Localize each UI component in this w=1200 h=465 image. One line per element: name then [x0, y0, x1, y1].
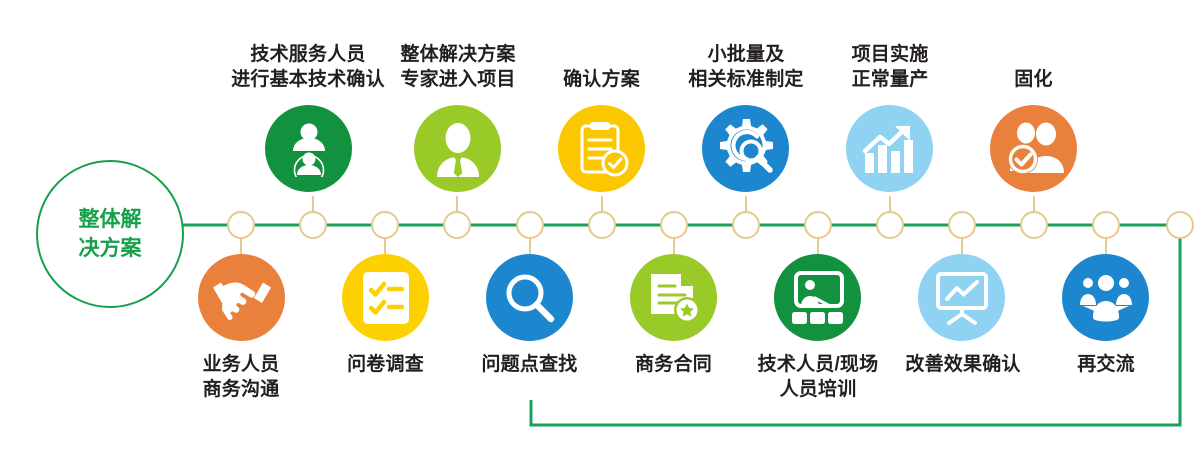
- bottom-step-7-icon group-people-icon[interactable]: [1062, 254, 1149, 341]
- flow-diagram: 整体解 决方案 技术服务人员 进行基本技术确认 整体解决方案 专家进入项目: [0, 0, 1200, 465]
- presentation-chart-icon-glyph: [934, 271, 990, 325]
- top-step-3-icon clipboard-check-icon[interactable]: [558, 105, 645, 192]
- team-check-icon-glyph: [1004, 121, 1064, 177]
- bottom-step-2-label: 问卷调查: [313, 352, 458, 377]
- top-step-1-icon two-people-icon[interactable]: [265, 105, 352, 192]
- magnifier-icon-glyph: [504, 272, 556, 324]
- bottom-step-6-label: 改善效果确认: [888, 352, 1038, 377]
- two-people-icon-glyph: [281, 121, 337, 177]
- top-step-5-icon growth-chart-icon[interactable]: [846, 105, 933, 192]
- handshake-icon-glyph: [211, 275, 273, 321]
- top-step-4-icon gear-magnifier-icon[interactable]: [702, 105, 789, 192]
- bottom-step-1-icon handshake-icon[interactable]: [198, 254, 285, 341]
- top-step-6-icon team-check-icon[interactable]: [990, 105, 1077, 192]
- bottom-step-5-icon training-board-icon[interactable]: [774, 254, 861, 341]
- bottom-step-3-icon magnifier-icon[interactable]: [486, 254, 573, 341]
- gear-magnifier-icon-glyph: [715, 118, 777, 180]
- top-step-5-label: 项目实施 正常量产: [818, 42, 962, 92]
- training-board-icon-glyph: [788, 271, 848, 325]
- group-people-icon-glyph: [1077, 273, 1135, 323]
- bottom-step-4-label: 商务合同: [601, 352, 746, 377]
- top-step-4-label: 小批量及 相关标准制定: [668, 42, 824, 92]
- bottom-step-2-icon checklist-icon[interactable]: [342, 254, 429, 341]
- bottom-step-4-icon document-star-icon[interactable]: [630, 254, 717, 341]
- bottom-step-6-icon presentation-chart-icon[interactable]: [918, 254, 1005, 341]
- bottom-step-3-label: 问题点查找: [457, 352, 602, 377]
- hub-circle[interactable]: 整体解 决方案: [36, 160, 184, 308]
- document-star-icon-glyph: [647, 271, 701, 325]
- bottom-step-1-label: 业务人员 商务沟通: [157, 352, 325, 402]
- bottom-step-5-label: 技术人员/现场 人员培训: [733, 352, 903, 402]
- top-step-3-label: 确认方案: [529, 67, 674, 92]
- top-step-1-label: 技术服务人员 进行基本技术确认: [218, 42, 398, 92]
- top-step-2-label: 整体解决方案 专家进入项目: [372, 42, 544, 92]
- bottom-step-7-label: 再交流: [1036, 352, 1176, 377]
- growth-chart-icon-glyph: [862, 123, 918, 175]
- person-tie-icon-glyph: [431, 121, 485, 177]
- timeline-stems-up: [313, 196, 1034, 225]
- top-step-6-label: 固化: [971, 67, 1096, 92]
- hub-label: 整体解 决方案: [79, 205, 142, 263]
- timeline-stems-down: [241, 225, 1106, 254]
- checklist-icon-glyph: [361, 270, 411, 326]
- timeline-nodes: [228, 212, 1193, 238]
- clipboard-check-icon-glyph: [573, 120, 631, 178]
- top-step-2-icon person-tie-icon[interactable]: [414, 105, 501, 192]
